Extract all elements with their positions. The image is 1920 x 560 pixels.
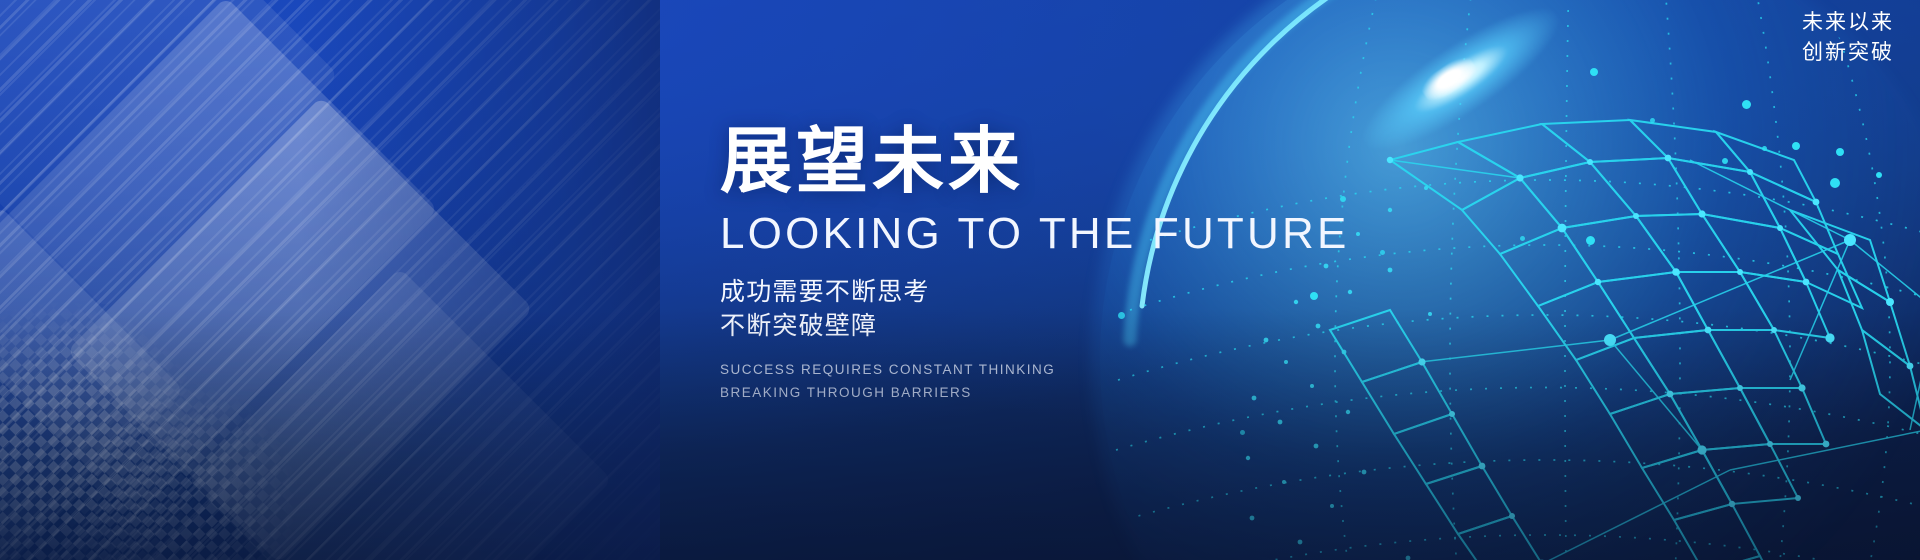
- particle: [1722, 158, 1728, 164]
- tagline-english: SUCCESS REQUIRES CONSTANT THINKING BREAK…: [720, 358, 1480, 405]
- particle: [1836, 148, 1844, 156]
- decor-fade: [300, 0, 660, 560]
- tagline-chinese-line-1: 成功需要不断思考: [720, 276, 1480, 310]
- headline-chinese: 展望未来: [720, 126, 1480, 198]
- corner-slogan: 未来以来 创新突破: [1802, 8, 1894, 69]
- particle: [1876, 172, 1882, 178]
- particle: [1590, 68, 1598, 76]
- headline-english: LOOKING TO THE FUTURE: [720, 212, 1480, 256]
- particle: [1830, 178, 1840, 188]
- particle: [1240, 430, 1245, 435]
- particle: [1742, 100, 1751, 109]
- particle: [1762, 146, 1767, 151]
- tagline-chinese-line-2: 不断突破壁障: [720, 310, 1480, 344]
- headline-block: 展望未来 LOOKING TO THE FUTURE 成功需要不断思考 不断突破…: [720, 126, 1480, 405]
- tagline-chinese: 成功需要不断思考 不断突破壁障: [720, 276, 1480, 344]
- tagline-english-line-2: BREAKING THROUGH BARRIERS: [720, 381, 1480, 405]
- particle: [1650, 118, 1655, 123]
- corner-slogan-line-2: 创新突破: [1802, 38, 1894, 68]
- tagline-english-line-1: SUCCESS REQUIRES CONSTANT THINKING: [720, 358, 1480, 382]
- corner-slogan-line-1: 未来以来: [1802, 8, 1894, 38]
- particle: [1520, 236, 1525, 241]
- left-geometric-decoration: [0, 0, 660, 560]
- particle: [1586, 236, 1595, 245]
- particle: [1792, 142, 1800, 150]
- promo-banner: 展望未来 LOOKING TO THE FUTURE 成功需要不断思考 不断突破…: [0, 0, 1920, 560]
